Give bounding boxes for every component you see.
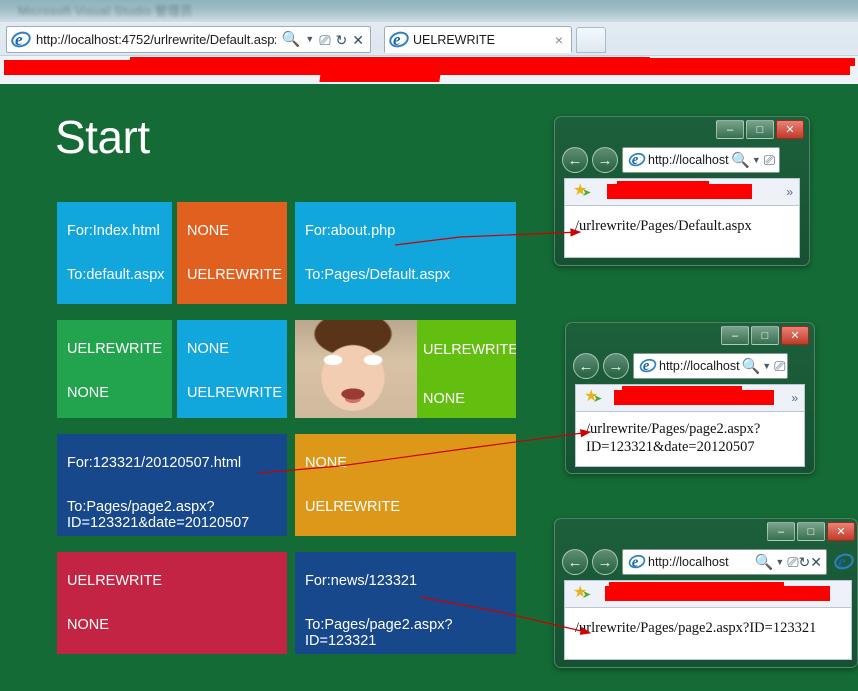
address-bar-icons: 🔍 ▼ ⎚ ↻ ✕ xyxy=(276,32,370,47)
tile-123321-20120507[interactable]: For:123321/20120507.html To:Pages/page2.… xyxy=(57,434,287,536)
refresh-icon[interactable]: ↻ xyxy=(336,33,348,47)
popup-address-bar[interactable]: e http://localhost 🔍 ▼ ⎚ ↻ ✕ xyxy=(622,549,827,575)
close-icon[interactable]: ✕ xyxy=(781,326,809,345)
tile-uelrewrite-none-1[interactable]: UELREWRITE NONE xyxy=(57,320,172,418)
redaction-mark xyxy=(319,73,440,82)
ie-logo-icon: e xyxy=(10,29,32,51)
search-icon[interactable]: 🔍 xyxy=(753,555,776,570)
tile-line3: ID=123321&date=20120507 xyxy=(67,516,287,532)
popup-body-line1: /urlrewrite/Pages/page2.aspx? xyxy=(586,421,794,439)
popup-nav-row: ← → e http://localhost 🔍 ▼ ⎚ xyxy=(573,353,788,379)
tile-none-uelrewrite-1[interactable]: NONE UELREWRITE xyxy=(177,202,287,304)
compatibility-view-icon[interactable]: ⎚ xyxy=(764,153,779,167)
favorites-star-icon[interactable]: ★➤ xyxy=(573,183,593,201)
ie-logo-icon: e xyxy=(833,551,855,573)
tile-line1: For:about.php xyxy=(305,224,516,240)
popup-body-line1: /urlrewrite/Pages/Default.aspx xyxy=(575,218,789,236)
chevron-down-icon[interactable]: ▼ xyxy=(305,35,314,44)
favorites-star-icon[interactable]: ★➤ xyxy=(584,389,604,407)
redaction-mark xyxy=(130,57,650,66)
maximize-icon[interactable]: □ xyxy=(797,522,825,541)
tile-line1: UELREWRITE xyxy=(67,574,287,590)
close-icon[interactable]: ✕ xyxy=(776,120,804,139)
tile-photo-uelrewrite-none[interactable]: UELREWRITE NONE xyxy=(295,320,516,418)
popup-favorites-bar: ★➤ » xyxy=(564,178,800,206)
forward-icon[interactable]: → xyxy=(592,549,618,575)
tile-line1: For:123321/20120507.html xyxy=(67,456,287,472)
popup-url: http://localhost xyxy=(659,359,740,373)
tile-line2: NONE xyxy=(67,386,172,402)
popup-content: /urlrewrite/Pages/Default.aspx xyxy=(564,206,800,258)
search-icon[interactable]: 🔍 xyxy=(729,153,752,168)
stop-icon[interactable]: ✕ xyxy=(352,33,364,47)
blurred-background-window: Microsoft Visual Studio 管理员 xyxy=(0,0,858,22)
popup-page2-date[interactable]: – □ ✕ ← → e http://localhost 🔍 ▼ ⎚ ★➤ » xyxy=(565,322,815,474)
redaction-mark xyxy=(622,386,742,393)
popup-content: /urlrewrite/Pages/page2.aspx?ID=123321 xyxy=(564,608,852,660)
browser-chrome: Microsoft Visual Studio 管理员 e http://loc… xyxy=(0,0,858,84)
tile-line2: UELREWRITE xyxy=(187,268,287,284)
tile-line2: To:Pages/page2.aspx? xyxy=(305,618,516,634)
new-tab-button[interactable] xyxy=(576,27,606,53)
page-title: Start xyxy=(55,110,150,164)
redaction-mark xyxy=(617,181,709,188)
window-buttons: – □ ✕ xyxy=(716,120,804,139)
tile-line2: UELREWRITE xyxy=(305,500,516,516)
tile-none-uelrewrite-2[interactable]: NONE UELREWRITE xyxy=(177,320,287,418)
tile-none-uelrewrite-3[interactable]: NONE UELREWRITE xyxy=(295,434,516,536)
tile-line1: NONE xyxy=(187,224,287,240)
favorites-overflow-icon[interactable]: » xyxy=(791,391,798,405)
tab-favicon-icon: e xyxy=(388,29,410,51)
ie-logo-icon: e xyxy=(628,151,647,170)
tile-line2: NONE xyxy=(423,391,465,407)
compatibility-view-icon[interactable]: ⎚ xyxy=(774,359,788,373)
baby-photo xyxy=(295,320,417,418)
tile-line1: NONE xyxy=(305,456,516,472)
popup-url: http://localhost xyxy=(648,555,753,569)
tab-label: UELREWRITE xyxy=(410,33,555,47)
popup-page2-id[interactable]: – □ ✕ ← → e http://localhost 🔍 ▼ ⎚ ↻ ✕ e xyxy=(554,518,858,668)
popup-nav-row: ← → e http://localhost 🔍 ▼ ⎚ ↻ ✕ e xyxy=(562,549,855,575)
screenshot-root: Microsoft Visual Studio 管理员 e http://loc… xyxy=(0,0,858,691)
tile-line1: For:Index.html xyxy=(67,224,172,240)
tile-line1: UELREWRITE xyxy=(423,342,516,358)
ie-logo-icon: e xyxy=(628,553,647,572)
maximize-icon[interactable]: □ xyxy=(746,120,774,139)
popup-favorites-bar: ★➤ xyxy=(564,580,852,608)
search-icon[interactable]: 🔍 xyxy=(282,32,301,47)
tile-about-php[interactable]: For:about.php To:Pages/Default.aspx xyxy=(295,202,516,304)
tile-line1: For:news/123321 xyxy=(305,574,516,590)
minimize-icon[interactable]: – xyxy=(767,522,795,541)
back-icon[interactable]: ← xyxy=(562,147,588,173)
popup-address-bar[interactable]: e http://localhost 🔍 ▼ ⎚ xyxy=(622,147,780,173)
tile-line2: UELREWRITE xyxy=(187,386,287,402)
chevron-down-icon[interactable]: ▼ xyxy=(762,362,774,371)
tile-line2: To:default.aspx xyxy=(67,268,172,284)
maximize-icon[interactable]: □ xyxy=(751,326,779,345)
redaction-mark xyxy=(640,58,855,66)
tile-line2: NONE xyxy=(67,618,287,634)
forward-icon[interactable]: → xyxy=(592,147,618,173)
compatibility-view-icon[interactable]: ⎚ xyxy=(787,555,798,569)
tile-line1: NONE xyxy=(187,342,287,358)
blurred-window-title: Microsoft Visual Studio 管理员 xyxy=(18,2,193,19)
chevron-down-icon[interactable]: ▼ xyxy=(775,558,787,567)
address-input[interactable]: http://localhost:4752/urlrewrite/Default… xyxy=(32,32,276,47)
tile-uelrewrite-none-2[interactable]: UELREWRITE NONE xyxy=(57,552,287,654)
popup-body-line2: ID=123321&date=20120507 xyxy=(586,439,794,457)
favorites-overflow-icon[interactable]: » xyxy=(786,185,793,199)
popup-content: /urlrewrite/Pages/page2.aspx? ID=123321&… xyxy=(575,412,805,467)
minimize-icon[interactable]: – xyxy=(716,120,744,139)
forward-icon[interactable]: → xyxy=(603,353,629,379)
popup-address-bar[interactable]: e http://localhost 🔍 ▼ ⎚ xyxy=(633,353,788,379)
chevron-down-icon[interactable]: ▼ xyxy=(752,156,764,165)
minimize-icon[interactable]: – xyxy=(721,326,749,345)
popup-url: http://localhost xyxy=(648,153,729,167)
address-bar[interactable]: e http://localhost:4752/urlrewrite/Defau… xyxy=(6,26,371,53)
tile-news-123321[interactable]: For:news/123321 To:Pages/page2.aspx? ID=… xyxy=(295,552,516,654)
search-icon[interactable]: 🔍 xyxy=(740,359,763,374)
popup-default-aspx[interactable]: – □ ✕ ← → e http://localhost 🔍 ▼ ⎚ ★➤ » xyxy=(554,116,810,266)
tile-line1: UELREWRITE xyxy=(67,342,172,358)
tile-line2: To:Pages/Default.aspx xyxy=(305,268,516,284)
favorites-bar xyxy=(0,55,858,84)
ie-logo-icon: e xyxy=(639,357,658,376)
refresh-icon[interactable]: ↻ xyxy=(799,555,811,569)
favorites-star-icon[interactable]: ★➤ xyxy=(573,585,593,603)
window-buttons: – □ ✕ xyxy=(767,522,855,541)
tile-index-html[interactable]: For:Index.html To:default.aspx xyxy=(57,202,172,304)
popup-body-line1: /urlrewrite/Pages/page2.aspx?ID=123321 xyxy=(575,620,841,638)
close-icon[interactable]: ✕ xyxy=(827,522,855,541)
window-buttons: – □ ✕ xyxy=(721,326,809,345)
popup-nav-row: ← → e http://localhost 🔍 ▼ ⎚ xyxy=(562,147,780,173)
back-icon[interactable]: ← xyxy=(573,353,599,379)
redaction-mark xyxy=(609,582,784,589)
tile-line3: ID=123321 xyxy=(305,634,516,650)
tab-uelrewrite[interactable]: e UELREWRITE × xyxy=(384,26,572,53)
back-icon[interactable]: ← xyxy=(562,549,588,575)
compatibility-view-icon[interactable]: ⎚ xyxy=(319,33,330,47)
tile-line2: To:Pages/page2.aspx? xyxy=(67,500,287,516)
stop-icon[interactable]: ✕ xyxy=(810,555,826,569)
close-icon[interactable]: × xyxy=(555,32,571,48)
popup-favorites-bar: ★➤ » xyxy=(575,384,805,412)
